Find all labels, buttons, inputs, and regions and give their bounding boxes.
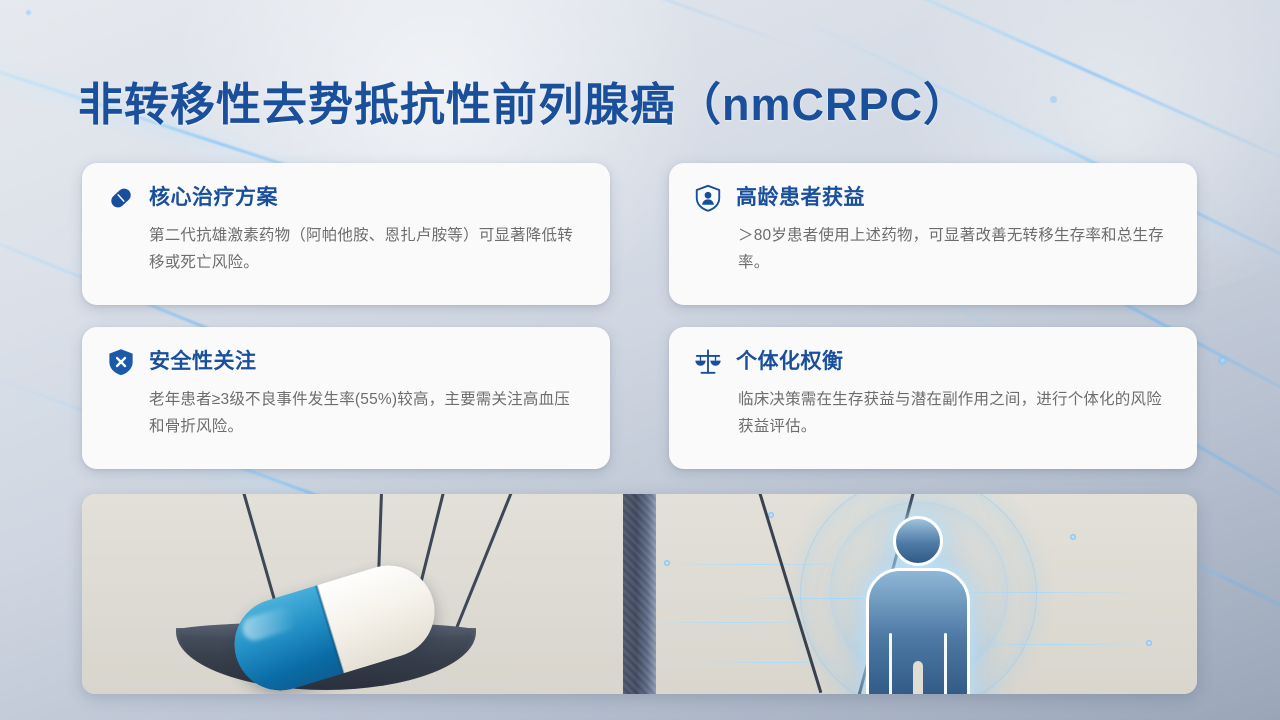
network-node	[1146, 640, 1152, 646]
card-body-text: 临床决策需在生存获益与潜在副作用之间，进行个体化的风险获益评估。	[738, 387, 1171, 440]
scale-center-column	[623, 494, 656, 694]
balance-scales-icon	[693, 347, 723, 377]
card-title: 高龄患者获益	[736, 185, 865, 210]
feature-card-grid: 核心治疗方案 第二代抗雄激素药物（阿帕他胺、恩扎卢胺等）可显著降低转移或死亡风险…	[82, 163, 1197, 469]
figure-body	[866, 568, 970, 694]
photo-human-figure	[640, 494, 1198, 694]
card-body-text: 第二代抗雄激素药物（阿帕他胺、恩扎卢胺等）可显著降低转移或死亡风险。	[149, 223, 584, 276]
light-dot	[26, 10, 31, 15]
figure-arm-left	[889, 633, 892, 694]
card-body-text: 老年患者≥3级不良事件发生率(55%)较高，主要需关注高血压和骨折风险。	[149, 387, 584, 440]
page-title: 非转移性去势抵抗性前列腺癌（nmCRPC）	[78, 68, 969, 133]
photo-capsule-on-scale	[82, 494, 640, 694]
card-header: 安全性关注	[106, 347, 584, 377]
light-dot	[1218, 356, 1227, 365]
card-title: 核心治疗方案	[149, 185, 278, 210]
network-node	[1070, 534, 1076, 540]
card-header: 高龄患者获益	[693, 183, 1171, 213]
shield-x-icon	[106, 347, 136, 377]
human-figure-silhouette	[860, 516, 976, 694]
capsule-icon	[106, 183, 136, 213]
photo-panel	[82, 494, 1197, 694]
card-safety-concern[interactable]: 安全性关注 老年患者≥3级不良事件发生率(55%)较高，主要需关注高血压和骨折风…	[82, 327, 610, 469]
slide-root: 非转移性去势抵抗性前列腺癌（nmCRPC） 核心治疗方案 第二代抗雄激素药物（阿…	[0, 0, 1280, 720]
card-body-text: ＞80岁患者使用上述药物，可显著改善无转移生存率和总生存率。	[738, 223, 1171, 276]
network-line	[650, 622, 820, 623]
card-title: 安全性关注	[149, 349, 257, 374]
figure-leg-gap	[913, 661, 923, 694]
light-streak	[315, 0, 804, 51]
figure-head	[893, 516, 943, 566]
card-elderly-benefit[interactable]: 高龄患者获益 ＞80岁患者使用上述药物，可显著改善无转移生存率和总生存率。	[669, 163, 1197, 305]
card-header: 个体化权衡	[693, 347, 1171, 377]
network-node	[664, 560, 670, 566]
card-core-treatment[interactable]: 核心治疗方案 第二代抗雄激素药物（阿帕他胺、恩扎卢胺等）可显著降低转移或死亡风险…	[82, 163, 610, 305]
light-dot	[1050, 96, 1057, 103]
shield-person-icon	[693, 183, 723, 213]
figure-arm-right	[944, 633, 947, 694]
card-title: 个体化权衡	[736, 349, 844, 374]
card-header: 核心治疗方案	[106, 183, 584, 213]
card-individualized-balance[interactable]: 个体化权衡 临床决策需在生存获益与潜在副作用之间，进行个体化的风险获益评估。	[669, 327, 1197, 469]
